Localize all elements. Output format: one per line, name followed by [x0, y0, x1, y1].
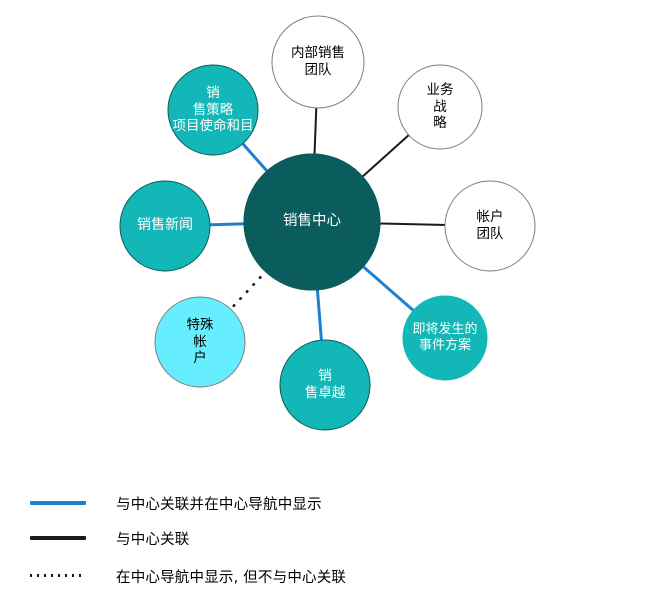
legend-label-associated: 与中心关联: [116, 528, 190, 549]
node-circle-business-strategy[interactable]: [398, 65, 482, 149]
legend-swatch-black-line: [30, 533, 86, 543]
diagram-canvas: [0, 0, 650, 450]
legend-line-dotted: [30, 574, 86, 577]
connector-black-business-strategy: [361, 134, 410, 178]
connector-black-account-team: [378, 223, 447, 225]
legend-item-associated-and-shown: 与中心关联并在中心导航中显示: [30, 486, 630, 520]
legend-line-blue: [30, 501, 86, 505]
connector-blue-sales-strategy-program: [241, 142, 268, 172]
connector-blue-sales-news: [208, 224, 246, 225]
legend-label-shown-not-associated: 在中心导航中显示, 但不与中心关联: [116, 566, 346, 587]
node-circle-upcoming-events-plan[interactable]: [403, 296, 487, 380]
legend: 与中心关联并在中心导航中显示 与中心关联 在中心导航中显示, 但不与中心关联: [0, 462, 650, 602]
legend-swatch-blue-line: [30, 498, 86, 508]
legend-item-shown-not-associated: 在中心导航中显示, 但不与中心关联: [30, 559, 630, 593]
node-circle-special-accounts[interactable]: [155, 297, 245, 387]
node-circle-sales-excellence[interactable]: [280, 340, 370, 430]
legend-swatch-dotted-line: [30, 571, 86, 581]
node-circle-sales-hub[interactable]: [244, 154, 380, 290]
legend-item-associated: 与中心关联: [30, 521, 630, 555]
connector-black-inside-sales-team: [314, 106, 316, 156]
node-circle-account-team[interactable]: [445, 181, 535, 271]
connector-blue-upcoming-events-plan: [362, 265, 415, 311]
node-circle-inside-sales-team[interactable]: [272, 16, 364, 108]
connector-blue-sales-excellence: [317, 288, 321, 342]
node-circle-sales-strategy-program[interactable]: [168, 65, 258, 155]
legend-label-associated-and-shown: 与中心关联并在中心导航中显示: [116, 493, 322, 514]
connector-dotted-special-accounts: [229, 270, 267, 310]
node-circle-sales-news[interactable]: [120, 181, 210, 271]
nodes-layer: [120, 16, 535, 430]
legend-line-black: [30, 536, 86, 540]
hub-and-spoke-diagram: 销售中心内部销售团队业务战略帐户团队即将发生的事件方案销售卓越特殊帐户销售新闻销…: [0, 0, 650, 450]
